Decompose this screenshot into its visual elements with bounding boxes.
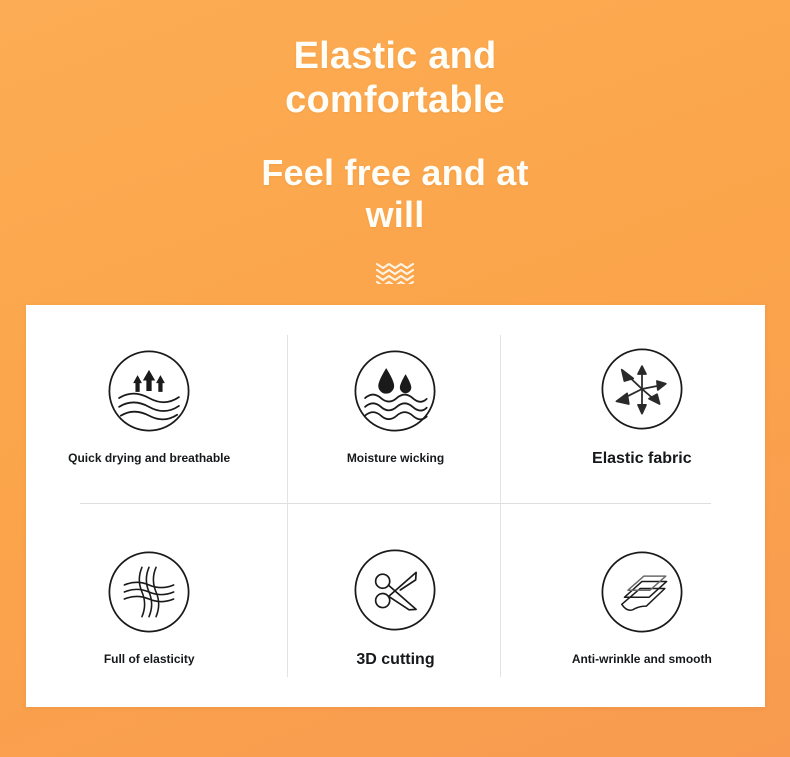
- feature-label: Elastic fabric: [592, 449, 692, 469]
- stacked-fabric-layers-icon: [598, 548, 686, 636]
- feature-label: Quick drying and breathable: [68, 451, 230, 466]
- page-subtitle: Feel free and at will: [230, 152, 560, 236]
- feature-item-moisture-wicking[interactable]: Moisture wicking: [272, 305, 518, 506]
- hero-section: Elastic and comfortable Feel free and at…: [0, 0, 790, 284]
- feature-card: Quick drying and breathable Mois: [26, 305, 765, 707]
- wave-divider-icon: [373, 260, 417, 284]
- page-title: Elastic and comfortable: [230, 34, 560, 122]
- feature-label: Full of elasticity: [104, 652, 195, 667]
- feature-item-elastic-fabric[interactable]: Elastic fabric: [519, 305, 765, 506]
- feature-item-full-elasticity[interactable]: Full of elasticity: [26, 506, 272, 707]
- feature-item-3d-cutting[interactable]: 3D cutting: [272, 506, 518, 707]
- feature-item-quick-drying[interactable]: Quick drying and breathable: [26, 305, 272, 506]
- water-droplets-over-waves-icon: [351, 347, 439, 435]
- feature-label: Anti-wrinkle and smooth: [572, 652, 712, 667]
- feature-label: Moisture wicking: [347, 451, 444, 466]
- woven-fibers-icon: [105, 548, 193, 636]
- product-feature-banner: Elastic and comfortable Feel free and at…: [0, 0, 790, 757]
- scissors-icon: [351, 546, 439, 634]
- feature-grid: Quick drying and breathable Mois: [26, 305, 765, 707]
- feature-item-anti-wrinkle[interactable]: Anti-wrinkle and smooth: [519, 506, 765, 707]
- feature-label: 3D cutting: [356, 650, 434, 670]
- arrows-up-over-waves-icon: [105, 347, 193, 435]
- multi-directional-arrows-icon: [598, 345, 686, 433]
